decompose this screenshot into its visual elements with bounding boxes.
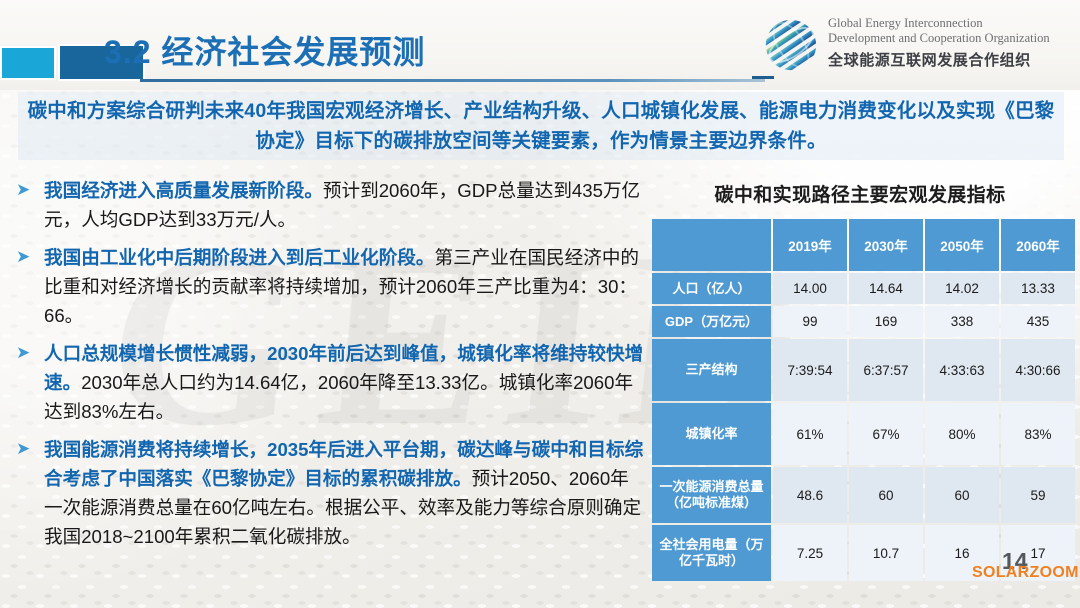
table-cell: 7.25 bbox=[773, 525, 847, 581]
arrow-bullet-icon: ➤ bbox=[16, 343, 30, 363]
header-tag-cyan bbox=[0, 46, 56, 80]
table-cell: 13.33 bbox=[1001, 273, 1075, 304]
list-item: ➤我国能源消费将持续增长，2035年后进入平台期，碳达峰与碳中和目标综合考虑了中… bbox=[14, 435, 644, 551]
source-watermark: SOLARZOOM bbox=[972, 564, 1079, 582]
bullet-normal-text: 2030年总人口约为14.64亿，2060年降至13.33亿。城镇化率2060年… bbox=[44, 372, 633, 422]
table-row: GDP（万亿元） 99 169 338 435 bbox=[652, 306, 1075, 337]
table-row-header: 全社会用电量（万亿千瓦时） bbox=[652, 525, 771, 581]
table-row-header: GDP（万亿元） bbox=[652, 306, 771, 337]
table-cell: 4:30:66 bbox=[1001, 339, 1075, 401]
organization-logo: Global Energy Interconnection Developmen… bbox=[762, 10, 1072, 80]
table-col-header: 2019年 bbox=[773, 219, 847, 271]
table-header-row: 2019年 2030年 2050年 2060年 bbox=[652, 219, 1075, 271]
table-row-header: 一次能源消费总量（亿吨标准煤） bbox=[652, 467, 771, 523]
table-cell: 10.7 bbox=[849, 525, 923, 581]
logo-text-block: Global Energy Interconnection Developmen… bbox=[828, 16, 1078, 70]
title-underline bbox=[140, 79, 765, 82]
arrow-bullet-icon: ➤ bbox=[16, 247, 30, 267]
table-cell: 60 bbox=[849, 467, 923, 523]
table-cell: 60 bbox=[925, 467, 999, 523]
logo-en-line2: Development and Cooperation Organization bbox=[828, 31, 1078, 46]
table-row: 一次能源消费总量（亿吨标准煤） 48.6 60 60 59 bbox=[652, 467, 1075, 523]
table-cell: 99 bbox=[773, 306, 847, 337]
table-title: 碳中和实现路径主要宏观发展指标 bbox=[650, 180, 1070, 207]
bullet-bold-text: 我国由工业化中后期阶段进入到后工业化阶段。 bbox=[44, 247, 434, 268]
table-cell: 14.00 bbox=[773, 273, 847, 304]
list-item: ➤人口总规模增长惯性减弱，2030年前后达到峰值，城镇化率将维持较快增速。203… bbox=[14, 339, 644, 426]
table-cell: 7:39:54 bbox=[773, 339, 847, 401]
slide-canvas: GEIDCO 3.2 经济社会发展预测 bbox=[0, 0, 1080, 608]
table-cell: 14.64 bbox=[849, 273, 923, 304]
bullet-list: ➤我国经济进入高质量发展新阶段。预计到2060年，GDP总量达到435万亿元，人… bbox=[14, 176, 644, 596]
globe-icon bbox=[762, 16, 820, 74]
table-col-header: 2030年 bbox=[849, 219, 923, 271]
logo-en-line1: Global Energy Interconnection bbox=[828, 16, 1078, 31]
summary-banner-text: 碳中和方案综合研判未来40年我国宏观经济增长、产业结构升级、人口城镇化发展、能源… bbox=[18, 92, 1064, 156]
table-row-header: 城镇化率 bbox=[652, 403, 771, 465]
table-cell: 67% bbox=[849, 403, 923, 465]
page-title: 3.2 经济社会发展预测 bbox=[104, 27, 425, 73]
table-cell: 6:37:57 bbox=[849, 339, 923, 401]
table-cell: 435 bbox=[1001, 306, 1075, 337]
table-cell: 80% bbox=[925, 403, 999, 465]
list-item: ➤我国由工业化中后期阶段进入到后工业化阶段。第三产业在国民经济中的比重和对经济增… bbox=[14, 243, 644, 330]
bullet-bold-text: 我国经济进入高质量发展新阶段。 bbox=[44, 180, 323, 201]
table-cell: 169 bbox=[849, 306, 923, 337]
arrow-bullet-icon: ➤ bbox=[16, 180, 30, 200]
summary-banner: 碳中和方案综合研判未来40年我国宏观经济增长、产业结构升级、人口城镇化发展、能源… bbox=[18, 92, 1064, 160]
table-row: 人口（亿人） 14.00 14.64 14.02 13.33 bbox=[652, 273, 1075, 304]
table-cell: 61% bbox=[773, 403, 847, 465]
table-cell: 338 bbox=[925, 306, 999, 337]
table-cell: 14.02 bbox=[925, 273, 999, 304]
table-col-header: 2060年 bbox=[1001, 219, 1075, 271]
table-cell: 48.6 bbox=[773, 467, 847, 523]
table-corner-cell bbox=[652, 219, 771, 271]
macro-indicators-table: 2019年 2030年 2050年 2060年 人口（亿人） 14.00 14.… bbox=[650, 217, 1077, 583]
logo-cn-name: 全球能源互联网发展合作组织 bbox=[828, 49, 1078, 70]
table-cell: 59 bbox=[1001, 467, 1075, 523]
list-item: ➤我国经济进入高质量发展新阶段。预计到2060年，GDP总量达到435万亿元，人… bbox=[14, 176, 644, 234]
table-row-header: 三产结构 bbox=[652, 339, 771, 401]
table-col-header: 2050年 bbox=[925, 219, 999, 271]
header-band: 3.2 经济社会发展预测 bbox=[0, 0, 1080, 90]
table-row: 城镇化率 61% 67% 80% 83% bbox=[652, 403, 1075, 465]
table-cell: 4:33:63 bbox=[925, 339, 999, 401]
table-cell: 83% bbox=[1001, 403, 1075, 465]
table-row: 三产结构 7:39:54 6:37:57 4:33:63 4:30:66 bbox=[652, 339, 1075, 401]
arrow-bullet-icon: ➤ bbox=[16, 439, 30, 459]
table-row-header: 人口（亿人） bbox=[652, 273, 771, 304]
